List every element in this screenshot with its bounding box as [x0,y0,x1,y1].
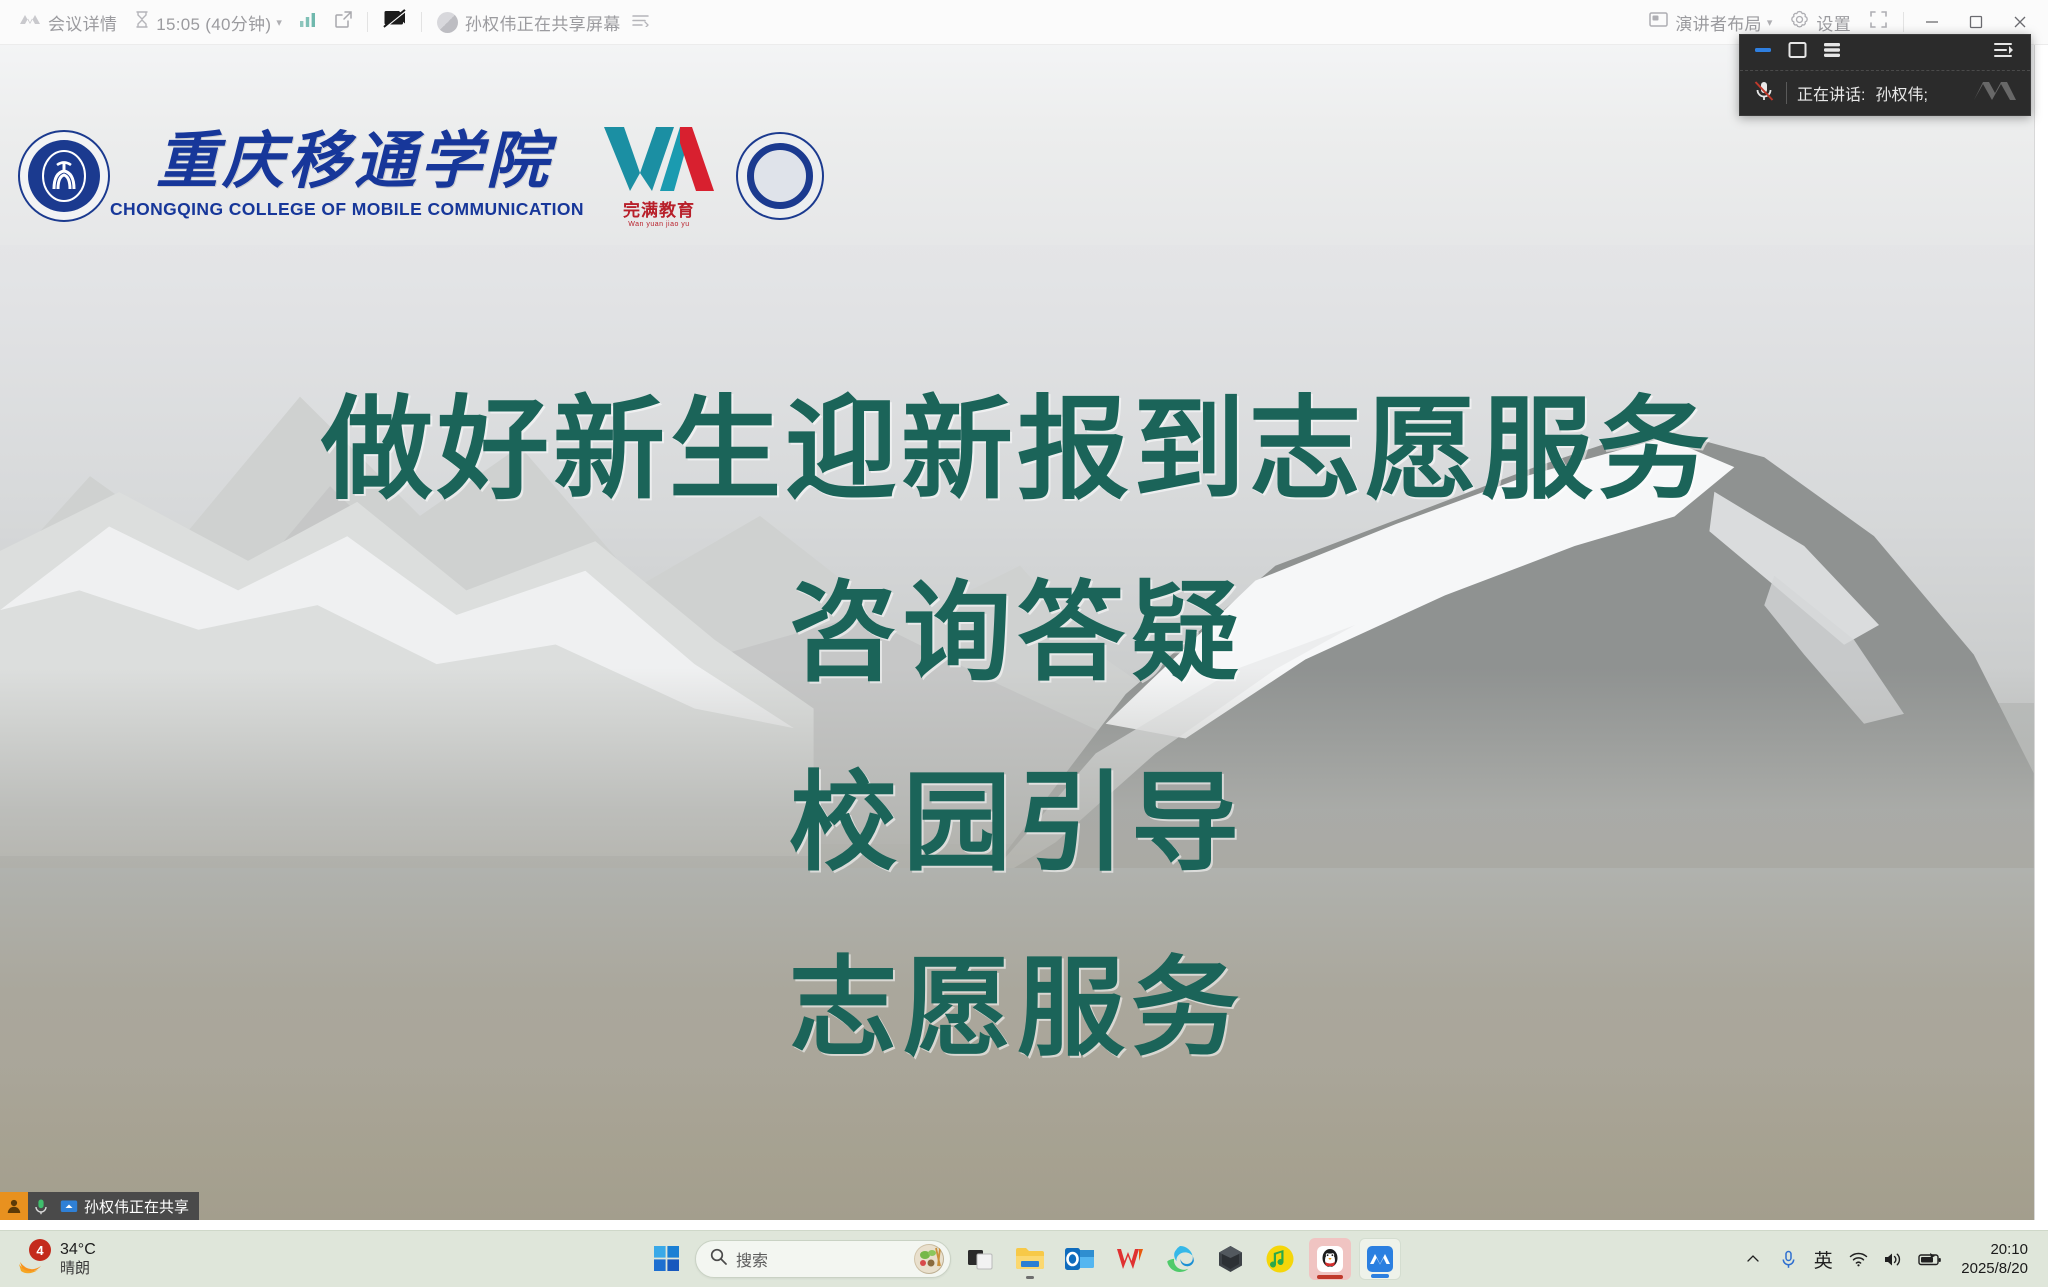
app-running-indicator-tm [1371,1274,1389,1278]
taskbar-search-box[interactable]: 搜索 [695,1240,951,1278]
layout-icon [1649,11,1668,33]
weather-notification-badge: 4 [29,1239,51,1261]
maximize-icon [1969,15,1983,29]
tray-wifi-button[interactable] [1842,1239,1874,1279]
college-name-cn: 重庆移通学院 [156,131,552,193]
user-icon [0,1192,28,1220]
sharer-name-label: 孙权伟正在共享屏幕 [465,10,621,35]
headline-line-2: 咨询答疑 [0,575,2034,694]
external-link-icon [335,11,352,33]
search-icon [710,1248,727,1270]
vm-mark-icon [600,123,718,195]
microphone-icon [1781,1250,1796,1269]
headline-line-4: 志愿服务 [0,950,2034,1069]
active-sharer-status[interactable]: 孙权伟正在共享屏幕 [428,6,658,39]
tencent-meeting-icon [1367,1246,1393,1272]
tray-battery-button[interactable] [1912,1239,1948,1279]
presentation-slide: 重庆移通学院 CHONGQING COLLEGE OF MOBILE COMMU… [0,45,2034,1220]
share-status-text: 孙权伟正在共享 [84,1196,189,1217]
speaker-layout-label: 演讲者布局 [1675,10,1762,35]
float-panel-divider [1786,82,1787,104]
tencent-meeting-window: 重庆移通学院 CHONGQING COLLEGE OF MOBILE COMMU… [0,0,2048,1287]
shared-screen-area[interactable]: 重庆移通学院 CHONGQING COLLEGE OF MOBILE COMMU… [0,45,2034,1220]
tencent-meeting-logo-icon [1972,78,2018,109]
restore-window-icon[interactable] [1788,41,1808,64]
toolbar-divider [367,12,368,32]
chevron-down-icon: ▾ [276,16,282,29]
gear-icon [1790,10,1809,34]
dark-hex-app-icon [1217,1245,1244,1273]
headline-line-1: 做好新生迎新报到志愿服务 [0,390,2034,511]
qq-icon [1317,1246,1343,1272]
chongqing-college-crest-icon [18,130,110,222]
clock-date: 2025/8/20 [1961,1259,2028,1278]
sun-weather-icon: 4 [16,1242,50,1276]
taskbar-app-dark-hex-app[interactable] [1209,1238,1251,1280]
institution-logos: 重庆移通学院 CHONGQING COLLEGE OF MOBILE COMMU… [18,123,824,228]
weather-text: 34°C 晴朗 [60,1240,96,1279]
minimize-icon[interactable] [1754,43,1774,62]
app-running-indicator-qq [1317,1275,1343,1279]
toolbar-divider-3 [1903,12,1904,32]
fullscreen-icon [1869,10,1888,34]
close-icon [2013,15,2027,29]
meeting-timer[interactable]: 15:05 (40分钟) ▾ [126,6,291,39]
taskbar-app-file-explorer[interactable] [1009,1238,1051,1280]
wanman-label-cn: 完满教育 [600,196,718,221]
tray-microphone-button[interactable] [1772,1239,1804,1279]
screen-share-icon[interactable] [54,1199,84,1214]
taskbar-app-task-view[interactable] [959,1238,1001,1280]
tray-volume-button[interactable] [1877,1239,1909,1279]
signal-bars-icon [300,12,317,32]
weather-condition: 晴朗 [60,1260,96,1279]
battery-icon [1918,1252,1942,1267]
taskbar-app-wps-office[interactable] [1109,1238,1151,1280]
tray-ime-indicator[interactable]: 英 [1807,1239,1839,1279]
recording-disabled-icon [383,9,406,35]
wanman-label-pinyin: Wan yuan jiao yu [600,221,718,228]
speaking-now-label: 正在讲话: [1797,81,1865,105]
meeting-timer-label: 15:05 (40分钟) [156,10,271,35]
more-options-icon[interactable] [632,12,649,32]
minimize-icon [1925,15,1939,29]
microsoft-edge-icon [1166,1245,1194,1273]
network-status-button[interactable] [291,6,326,39]
popout-window-button[interactable] [326,6,361,39]
wps-office-icon [1115,1247,1145,1271]
participants-list-icon[interactable] [1822,41,1842,64]
tray-chevron-up-button[interactable] [1737,1239,1769,1279]
slide-logo-banner: 重庆移通学院 CHONGQING COLLEGE OF MOBILE COMMU… [0,45,2034,245]
chevron-down-icon-layout: ▾ [1767,16,1773,29]
taskbar-app-qq-music[interactable] [1259,1238,1301,1280]
food-bowl-icon[interactable] [914,1244,944,1274]
taskbar-weather-widget[interactable]: 4 34°C 晴朗 [0,1240,280,1279]
windows-start-button[interactable] [647,1239,687,1279]
taskbar-center-group: 搜索 [647,1238,1401,1280]
expand-panel-icon[interactable] [1994,46,2016,63]
speaking-now-name: 孙权伟; [1875,81,1927,105]
taskbar-app-microsoft-edge[interactable] [1159,1238,1201,1280]
task-view-icon [967,1246,993,1272]
search-placeholder: 搜索 [736,1247,905,1271]
float-panel-speaking-row: 正在讲话: 孙权伟; [1740,71,2030,115]
headline-line-3: 校园引导 [0,765,2034,884]
taskbar-app-outlook[interactable] [1059,1238,1101,1280]
toolbar-divider-2 [421,12,422,32]
recording-disabled-button[interactable] [374,6,415,39]
screen-share-status-bar[interactable]: 孙权伟正在共享 [0,1192,199,1220]
weather-temperature: 34°C [60,1240,96,1260]
college-name-en: CHONGQING COLLEGE OF MOBILE COMMUNICATIO… [110,199,584,220]
qq-music-icon [1266,1245,1294,1273]
volume-icon [1884,1251,1903,1268]
clock-time: 20:10 [1961,1240,2028,1259]
meeting-details-button[interactable]: 会议详情 [10,6,126,39]
floating-meeting-control-panel[interactable]: 正在讲话: 孙权伟; [1739,34,2031,116]
meeting-toolbar-left: 会议详情 15:05 (40分钟) ▾ [0,6,658,39]
slide-ground-foreground [0,1067,2034,1220]
wifi-icon [1849,1251,1868,1267]
system-tray: 英 [1737,1239,2048,1279]
chevron-up-icon [1746,1252,1760,1266]
microphone-muted-icon[interactable] [1752,79,1776,108]
big-data-school-crest-icon [736,132,824,220]
windows-taskbar: 4 34°C 晴朗 [0,1230,2048,1287]
tencent-meeting-logo-icon [19,12,41,33]
settings-label: 设置 [1816,10,1851,35]
avatar [437,12,458,33]
hourglass-icon [135,11,149,33]
shared-area-right-edge [2034,45,2048,1220]
taskbar-clock[interactable]: 20:10 2025/8/20 [1951,1240,2034,1278]
windows-start-icon [654,1246,680,1272]
microphone-icon[interactable] [28,1198,54,1215]
taskbar-app-qq[interactable] [1309,1238,1351,1280]
meeting-details-label: 会议详情 [48,10,117,35]
taskbar-app-tencent-meeting[interactable] [1359,1238,1401,1280]
wanman-education-logo: 完满教育 Wan yuan jiao yu [600,123,718,228]
file-explorer-icon [1015,1245,1045,1273]
float-panel-left-controls [1754,41,1842,64]
app-running-indicator [1026,1276,1034,1279]
float-panel-controls-row [1740,35,2030,71]
float-panel-right-controls [1994,41,2016,64]
outlook-icon [1065,1246,1095,1272]
